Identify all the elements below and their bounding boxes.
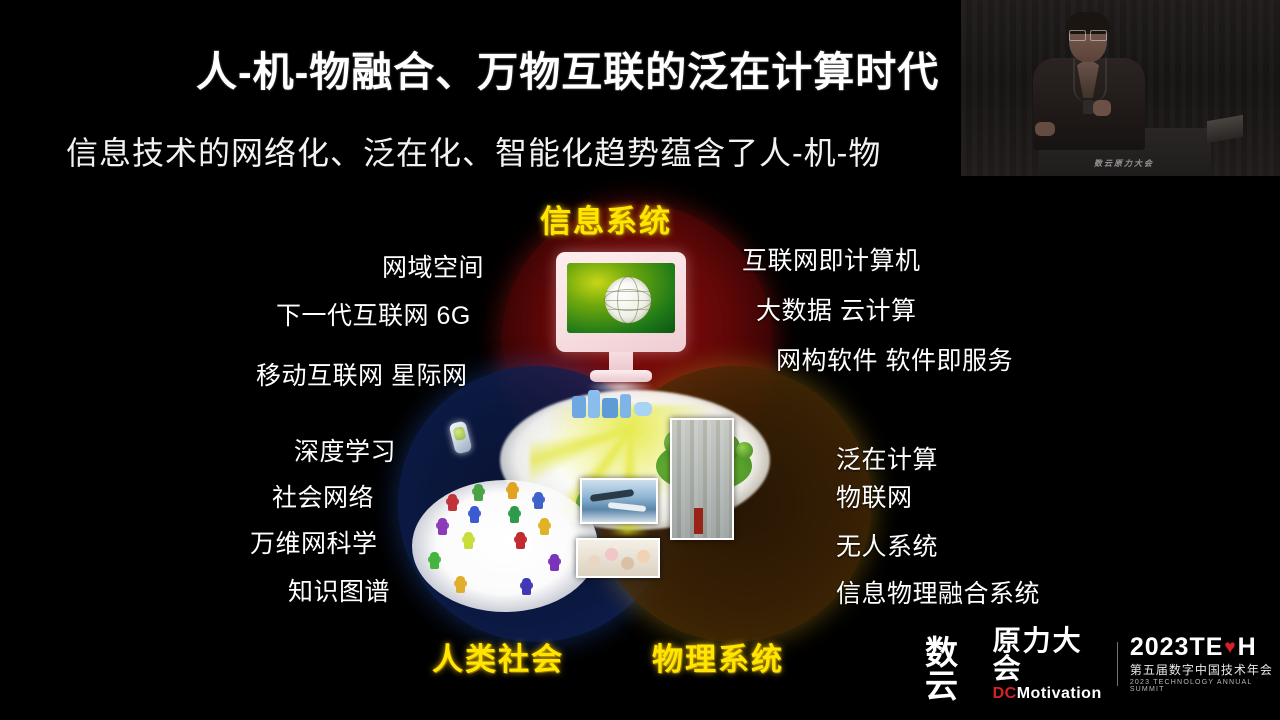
conference-logo: 数云 原力大会 DCMotivation 2023TE♥H 第五届数字中国技术年… bbox=[925, 636, 1280, 692]
keyword-internet-as-computer: 互联网即计算机 bbox=[742, 241, 921, 277]
monitor-reflection bbox=[588, 380, 654, 394]
logo-event-full-en: 2023 TECHNOLOGY ANNUAL SUMMIT bbox=[1130, 679, 1280, 693]
globe-icon bbox=[605, 277, 651, 323]
logo-brand-group: 数云 原力大会 DCMotivation bbox=[925, 627, 1105, 702]
person-icon bbox=[508, 482, 517, 499]
venn-label-human-society: 人类社会 bbox=[432, 634, 564, 679]
keyword-unmanned-systems: 无人系统 bbox=[836, 527, 938, 563]
keyword-cyberspace: 网域空间 bbox=[382, 248, 484, 284]
keyword-deep-learning: 深度学习 bbox=[294, 432, 396, 468]
aircraft-photo bbox=[580, 478, 658, 524]
speaker-hand-right bbox=[1093, 100, 1111, 116]
logo-year-suffix-a: TE bbox=[1189, 635, 1223, 660]
person-icon bbox=[474, 484, 483, 501]
logo-year-number: 2023 bbox=[1130, 635, 1190, 660]
logo-brand-en-accent: DC bbox=[993, 685, 1017, 702]
monitor-globe-icon bbox=[556, 252, 686, 392]
person-icon bbox=[438, 518, 447, 535]
venn-label-physical-system: 物理系统 bbox=[652, 634, 784, 679]
keyword-internetware-saas: 网构软件 软件即服务 bbox=[776, 341, 1013, 377]
logo-year-group: 2023TE♥H 第五届数字中国技术年会 2023 TECHNOLOGY ANN… bbox=[1130, 635, 1280, 693]
glasses-icon bbox=[1069, 30, 1107, 39]
person-icon bbox=[516, 532, 525, 549]
tree-icon bbox=[736, 442, 753, 459]
heart-icon: ♥ bbox=[1224, 638, 1236, 657]
slide-subtitle: 信息技术的网络化、泛在化、智能化趋势蕴含了人-机-物 bbox=[66, 128, 1026, 174]
logo-event-cn: 原力大会 bbox=[993, 627, 1105, 683]
logo-event-group: 原力大会 DCMotivation bbox=[993, 627, 1105, 702]
keyword-social-network: 社会网络 bbox=[272, 478, 374, 514]
keyword-ubiquitous-computing: 泛在计算 bbox=[836, 440, 938, 476]
person-icon bbox=[550, 554, 559, 571]
logo-brand-en: DCMotivation bbox=[993, 686, 1105, 702]
venn-label-information-system: 信息系统 bbox=[540, 196, 672, 241]
person-icon bbox=[522, 578, 531, 595]
city-blob-icon bbox=[620, 394, 631, 418]
person-icon bbox=[534, 492, 543, 509]
person-icon bbox=[448, 494, 457, 511]
podium-signage-text: 数云原力大会 bbox=[1059, 158, 1189, 169]
keyword-web-science: 万维网科学 bbox=[250, 524, 378, 560]
video-bottom-bar bbox=[961, 176, 1280, 183]
person-icon bbox=[510, 506, 519, 523]
keyword-knowledge-graph: 知识图谱 bbox=[288, 572, 390, 608]
speaker-video-overlay[interactable]: 数云原力大会 bbox=[960, 0, 1280, 183]
city-blob-icon bbox=[602, 398, 618, 418]
city-blob-icon bbox=[588, 390, 600, 418]
person-icon bbox=[464, 532, 473, 549]
presentation-slide: 人-机-物融合、万物互联的泛在计算时代 信息技术的网络化、泛在化、智能化趋势蕴含… bbox=[0, 0, 1280, 720]
crowd-photo bbox=[576, 538, 660, 578]
city-blob-icon bbox=[572, 396, 586, 418]
logo-event-full-cn: 第五届数字中国技术年会 bbox=[1130, 664, 1280, 676]
keyword-big-data-cloud: 大数据 云计算 bbox=[756, 291, 916, 327]
logo-year-line: 2023TE♥H bbox=[1130, 635, 1280, 660]
keyword-cyber-physical-systems: 信息物理融合系统 bbox=[836, 574, 1040, 610]
lanyard-icon bbox=[1073, 58, 1107, 102]
person-icon bbox=[470, 506, 479, 523]
logo-brand-en-rest: Motivation bbox=[1017, 685, 1102, 702]
speaker-hand-left bbox=[1035, 122, 1055, 136]
person-icon bbox=[540, 518, 549, 535]
human-network-icon bbox=[412, 480, 598, 612]
city-blob-icon bbox=[634, 402, 652, 416]
keyword-next-gen-internet: 下一代互联网 6G bbox=[276, 296, 471, 332]
keyword-iot: 物联网 bbox=[836, 478, 913, 514]
monitor-bezel bbox=[556, 252, 686, 352]
logo-year-suffix-b: H bbox=[1238, 635, 1257, 660]
person-icon bbox=[456, 576, 465, 593]
monitor-neck bbox=[609, 352, 633, 372]
person-icon bbox=[430, 552, 439, 569]
slide-title: 人-机-物融合、万物互联的泛在计算时代 bbox=[196, 38, 1056, 98]
monitor-screen bbox=[567, 263, 675, 333]
logo-divider bbox=[1117, 642, 1118, 686]
skyscraper-photo bbox=[670, 418, 734, 540]
keyword-mobile-internet: 移动互联网 星际网 bbox=[256, 356, 467, 392]
logo-brand-cn: 数云 bbox=[925, 636, 989, 702]
